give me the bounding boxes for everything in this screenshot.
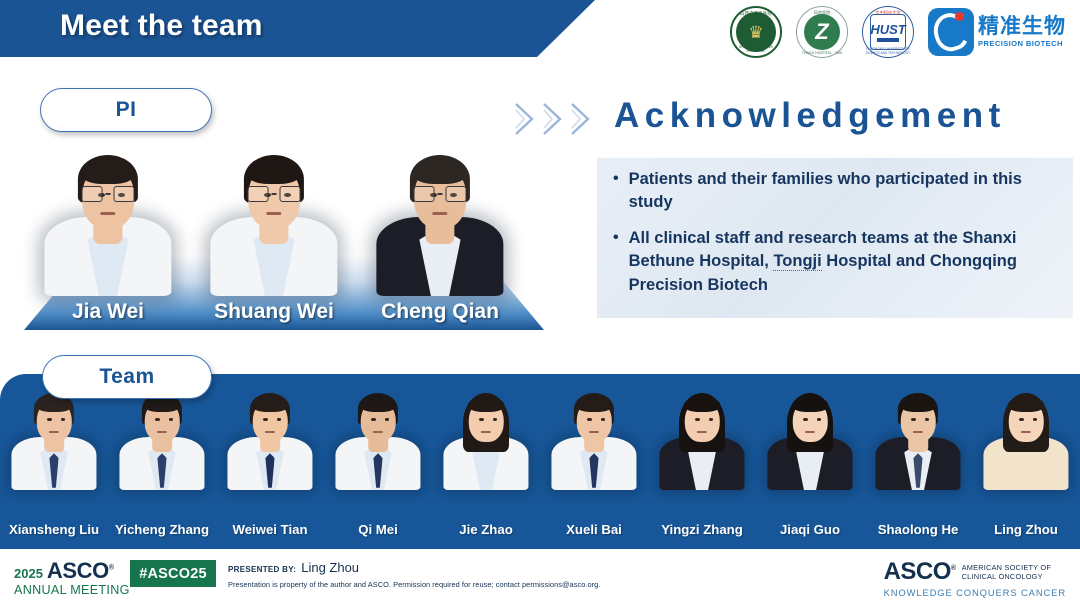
portrait-eye	[493, 418, 498, 421]
portrait-eye	[803, 418, 808, 421]
logo-ring-text-bottom: HUAZHONG UNIVERSITY OF SCIENCE AND TECHN…	[863, 47, 913, 55]
portrait-mouth	[697, 431, 707, 433]
portrait-mouth	[589, 431, 599, 433]
biotech-name-en: PRECISION BIOTECH	[978, 40, 1066, 48]
portrait-mouth	[432, 212, 447, 215]
portrait-glasses-icon	[414, 186, 467, 202]
member-portrait	[548, 388, 640, 490]
portrait-fringe	[900, 397, 936, 412]
member-portrait	[764, 388, 856, 490]
asco-subtitle-line1: AMERICAN SOCIETY OF	[962, 563, 1052, 572]
presenter-name: Ling Zhou	[301, 560, 359, 575]
page-title: Meet the team	[60, 9, 263, 43]
member-portrait	[8, 388, 100, 490]
team-member-name: Xueli Bai	[534, 522, 654, 537]
team-member: Yicheng Zhang	[108, 374, 216, 549]
meeting-brand: ASCO	[47, 558, 109, 583]
portrait-mouth	[805, 431, 815, 433]
member-portrait	[224, 388, 316, 490]
team-member: Qi Mei	[324, 374, 432, 549]
team-member: Xiansheng Liu	[0, 374, 108, 549]
portrait-fringe	[1008, 397, 1044, 412]
presented-by-label: PRESENTED BY:	[228, 565, 296, 574]
team-member-name: Weiwei Tian	[210, 522, 330, 537]
team-member-photo	[332, 388, 424, 490]
portrait-eye	[277, 418, 282, 421]
asco-brand: ASCO	[884, 558, 951, 585]
portrait-eye	[371, 418, 376, 421]
team-member-name: Shaolong He	[858, 522, 978, 537]
member-portrait	[980, 388, 1072, 490]
portrait-fringe	[252, 397, 288, 412]
portrait-fringe	[468, 397, 504, 412]
pi-member-name: Cheng Qian	[366, 300, 514, 324]
portrait-fringe	[792, 397, 828, 412]
team-member-photo	[980, 388, 1072, 490]
team-member-photo	[440, 388, 532, 490]
team-member: Shaolong He	[864, 374, 972, 549]
team-member-photo	[224, 388, 316, 490]
hashtag-badge: #ASCO25	[130, 560, 216, 587]
team-member-name: Yingzi Zhang	[642, 522, 762, 537]
team-member: Yingzi Zhang	[648, 374, 756, 549]
acknowledgement-title: Acknowledgement	[614, 96, 1006, 136]
trademark-icon: ®	[951, 565, 956, 572]
portrait-eye	[47, 418, 52, 421]
copyright-disclaimer: Presentation is property of the author a…	[228, 580, 600, 589]
portrait-eye	[587, 418, 592, 421]
logo-ring-text-top: 山西白求恩医院	[732, 11, 780, 17]
asco-subtitle-line2: CLINICAL ONCOLOGY	[962, 572, 1043, 581]
portrait-eye	[169, 418, 174, 421]
portrait-mouth	[373, 431, 383, 433]
portrait-eye	[601, 418, 606, 421]
huazhong-university-logo: 华中科技大学 HUST HUAZHONG UNIVERSITY OF SCIEN…	[862, 6, 914, 58]
team-member-name: Jiaqi Guo	[750, 522, 870, 537]
portrait-fringe	[413, 162, 466, 184]
footer-bar: 2025 ASCO® ANNUAL MEETING #ASCO25 PRESEN…	[0, 549, 1080, 600]
team-member: Ling Zhou	[972, 374, 1080, 549]
team-member-photo	[8, 388, 100, 490]
asco-society-logo: ASCO® AMERICAN SOCIETY OF CLINICAL ONCOL…	[884, 560, 1066, 597]
team-member-photo	[116, 388, 208, 490]
pi-label: PI	[116, 98, 137, 122]
portrait-mouth	[157, 431, 167, 433]
team-label: Team	[99, 365, 154, 389]
pi-label-pill: PI	[40, 88, 212, 132]
acknowledgement-item: •Patients and their families who partici…	[613, 168, 1065, 215]
team-label-pill: Team	[42, 355, 212, 399]
portrait-fringe	[684, 397, 720, 412]
team-member-photo	[656, 388, 748, 490]
portrait-eye	[817, 418, 822, 421]
chevron-arrows	[512, 100, 594, 138]
member-portrait	[116, 388, 208, 490]
team-member-name: Ling Zhou	[966, 522, 1080, 537]
member-portrait	[332, 388, 424, 490]
portrait-eye	[385, 418, 390, 421]
portrait-eye	[1033, 418, 1038, 421]
team-member-name: Xiansheng Liu	[0, 522, 114, 537]
portrait-mouth	[100, 212, 115, 215]
team-member-list: Xiansheng LiuYicheng ZhangWeiwei TianQi …	[0, 374, 1080, 549]
portrait-eye	[709, 418, 714, 421]
chevron-right-icon	[540, 100, 566, 138]
team-member: Jie Zhao	[432, 374, 540, 549]
portrait-fringe	[247, 162, 300, 184]
portrait-mouth	[481, 431, 491, 433]
team-member: Jiaqi Guo	[756, 374, 864, 549]
logo-ring-text-top: 同济医院	[797, 10, 847, 16]
acknowledgement-item: •All clinical staff and research teams a…	[613, 227, 1065, 297]
pi-member: Cheng Qian	[366, 150, 514, 330]
portrait-fringe	[81, 162, 134, 184]
hashtag-label: #ASCO25	[139, 566, 207, 582]
hust-bar-icon	[877, 38, 899, 42]
portrait-mouth	[49, 431, 59, 433]
team-member-photo	[764, 388, 856, 490]
asco-annual-meeting-logo: 2025 ASCO® ANNUAL MEETING	[14, 560, 130, 597]
portrait-eye	[61, 418, 66, 421]
portrait-eye	[911, 418, 916, 421]
portrait-mouth	[1021, 431, 1031, 433]
team-member-name: Yicheng Zhang	[102, 522, 222, 537]
acknowledgement-list: •Patients and their families who partici…	[613, 168, 1065, 309]
asco-tagline: KNOWLEDGE CONQUERS CANCER	[884, 588, 1066, 597]
member-portrait	[440, 388, 532, 490]
logo-ring-text-top: 华中科技大学	[863, 10, 913, 16]
portrait-eye	[1019, 418, 1024, 421]
chevron-right-icon	[568, 100, 594, 138]
meeting-year: 2025	[14, 567, 43, 580]
trademark-icon: ®	[109, 565, 114, 572]
team-member-name: Qi Mei	[318, 522, 438, 537]
team-member-photo	[548, 388, 640, 490]
portrait-fringe	[360, 397, 396, 412]
team-member: Weiwei Tian	[216, 374, 324, 549]
portrait-mouth	[265, 431, 275, 433]
biotech-swirl-icon	[928, 8, 974, 56]
shanxi-bethune-hospital-logo: 山西白求恩医院 ♛ SHANXI BETHUNE HOSPITAL	[730, 6, 782, 58]
portrait-fringe	[576, 397, 612, 412]
pi-member-name: Shuang Wei	[200, 300, 348, 324]
portrait-fringe	[144, 397, 180, 412]
bullet-icon: •	[613, 168, 619, 215]
institution-logo-row: 山西白求恩医院 ♛ SHANXI BETHUNE HOSPITAL 同济医院 Z…	[730, 4, 1066, 60]
precision-biotech-logo: 精准生物 PRECISION BIOTECH	[928, 8, 1066, 56]
member-portrait	[656, 388, 748, 490]
member-portrait	[200, 148, 348, 296]
pi-member: Shuang Wei	[200, 150, 348, 330]
pi-member-list: Jia WeiShuang WeiCheng Qian	[24, 150, 544, 330]
portrait-eye	[155, 418, 160, 421]
portrait-fringe	[36, 397, 72, 412]
slide-root: Meet the team 山西白求恩医院 ♛ SHANXI BETHUNE H…	[0, 0, 1080, 600]
pi-member: Jia Wei	[34, 150, 182, 330]
portrait-eye	[263, 418, 268, 421]
portrait-eye	[479, 418, 484, 421]
meeting-subtitle: ANNUAL MEETING	[14, 584, 130, 597]
logo-ring-text-bottom: TONGJI HOSPITAL · 1900	[797, 51, 847, 55]
hust-mark-icon: HUST	[870, 23, 905, 36]
team-member-photo	[872, 388, 964, 490]
portrait-glasses-icon	[82, 186, 135, 202]
portrait-eye	[925, 418, 930, 421]
team-member-name: Jie Zhao	[426, 522, 546, 537]
team-member: Xueli Bai	[540, 374, 648, 549]
tongji-hospital-logo: 同济医院 Z TONGJI HOSPITAL · 1900	[796, 6, 848, 58]
bullet-icon: •	[613, 227, 619, 297]
biotech-name-cn: 精准生物	[978, 16, 1066, 37]
spellcheck-underline: Tongji	[773, 252, 821, 271]
member-portrait	[872, 388, 964, 490]
crest-icon: ♛	[748, 24, 763, 41]
logo-ring-text-bottom: SHANXI BETHUNE HOSPITAL	[732, 45, 780, 53]
acknowledgement-item-text: Patients and their families who particip…	[629, 168, 1065, 215]
portrait-mouth	[266, 212, 281, 215]
portrait-mouth	[913, 431, 923, 433]
portrait-eye	[695, 418, 700, 421]
presented-by: PRESENTED BY: Ling Zhou	[228, 560, 359, 575]
tongji-z-icon: Z	[815, 21, 828, 43]
member-portrait	[34, 148, 182, 296]
chevron-right-icon	[512, 100, 538, 138]
member-portrait	[366, 148, 514, 296]
pi-member-name: Jia Wei	[34, 300, 182, 324]
portrait-glasses-icon	[248, 186, 301, 202]
acknowledgement-item-text: All clinical staff and research teams at…	[629, 227, 1065, 297]
